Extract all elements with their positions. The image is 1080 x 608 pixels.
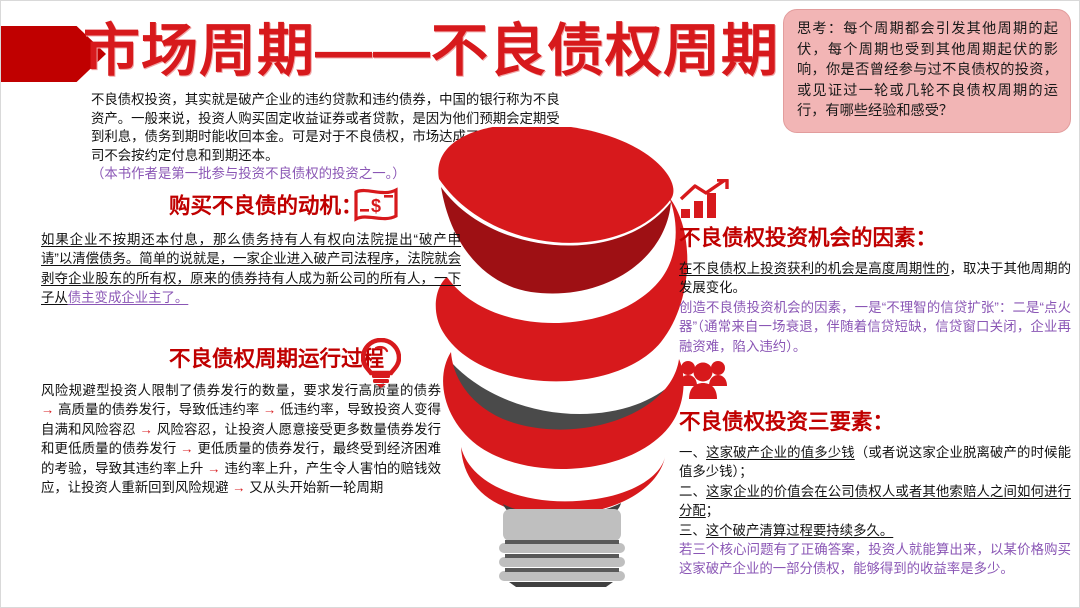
section-process-body: 风险规避型投资人限制了债券发行的数量，要求发行高质量的债券 → 高质量的债券发行… xyxy=(41,381,441,497)
section-three-body: 一、这家破产企业的值多少钱（或者说这家企业脱离破产的时候能值多少钱）； 二、这家… xyxy=(679,443,1071,579)
section-motive: $ 购买不良债的动机： 如果企业不按期还本付息，那么债务持有人有权向法院提出“破… xyxy=(41,193,461,308)
flow-arrow-icon: → xyxy=(140,422,153,437)
item-num: 二、 xyxy=(679,484,706,499)
thinking-callout: 思考：每个周期都会引发其他周期的起伏，每个周期也受到其他周期起伏的影响，你是否曾… xyxy=(783,9,1071,133)
list-item: 一、这家破产企业的值多少钱（或者说这家企业脱离破产的时候能值多少钱）； xyxy=(679,443,1071,482)
list-item: 三、这个破产清算过程要持续多久。 xyxy=(679,521,1071,540)
factors-body-underlined: 在不良债权上投资获利的机会是高度周期性的 xyxy=(679,261,949,276)
people-group-icon xyxy=(679,359,727,404)
section-motive-body: 如果企业不按期还本付息，那么债务持有人有权向法院提出“破产申请”以清偿债务。简单… xyxy=(41,230,461,308)
section-factors-body: 在不良债权上投资获利的机会是高度周期性的，取决于其他周期的发展变化。 创造不良债… xyxy=(679,259,1071,356)
item-underlined: 这个破产清算过程要持续多久。 xyxy=(706,523,893,538)
item-num: 三、 xyxy=(679,523,706,538)
flow-arrow-icon: → xyxy=(207,461,220,476)
process-body-text: 风险规避型投资人限制了债券发行的数量，要求发行高质量的债券 → 高质量的债券发行… xyxy=(41,383,441,495)
section-motive-heading: 购买不良债的动机： xyxy=(169,193,461,219)
bar-chart-growth-icon xyxy=(679,179,731,224)
flow-arrow-icon: → xyxy=(232,480,245,495)
spiral-lightbulb-graphic xyxy=(421,127,711,587)
item-underlined: 这家破产企业的值多少钱 xyxy=(706,445,855,460)
intro-note: （本书作者是第一批参与投资不良债权的投资之一。） xyxy=(91,166,406,181)
three-summary: 若三个核心问题有了正确答案，投资人就能算出来，以某价格购买这家破产企业的一部分债… xyxy=(679,540,1071,579)
section-three-heading: 不良债权投资三要素： xyxy=(679,409,1071,435)
flow-arrow-icon: → xyxy=(41,402,54,417)
item-underlined: 这家企业的价值会在公司债权人或者其他索赔人之间如何进行分配 xyxy=(679,484,1071,518)
section-factors: 不良债权投资机会的因素： 在不良债权上投资获利的机会是高度周期性的，取决于其他周… xyxy=(679,179,1071,356)
item-rest: ； xyxy=(706,503,719,518)
svg-text:$: $ xyxy=(371,196,381,216)
lightbulb-icon xyxy=(361,338,401,393)
motive-body-purple: 债主变成企业主了。 xyxy=(68,290,189,305)
flow-arrow-icon: → xyxy=(263,402,276,417)
section-factors-heading: 不良债权投资机会的因素： xyxy=(679,225,1071,251)
factors-body-purple: 创造不良债投资机会的因素，一是“不理智的信贷扩张”：二是“点火器”（通常来自一场… xyxy=(679,300,1071,354)
page-title: 市场周期——不良债权周期 xyxy=(83,18,779,84)
list-item: 二、这家企业的价值会在公司债权人或者其他索赔人之间如何进行分配； xyxy=(679,482,1071,521)
callout-text: 思考：每个周期都会引发其他周期的起伏，每个周期也受到其他周期起伏的影响，你是否曾… xyxy=(797,21,1058,119)
section-three-elements: 不良债权投资三要素： 一、这家破产企业的值多少钱（或者说这家企业脱离破产的时候能… xyxy=(679,359,1071,579)
section-process: 不良债权周期运行过程 风险规避型投资人限制了债券发行的数量，要求发行高质量的债券… xyxy=(41,346,441,497)
slide-canvas: 市场周期——不良债权周期 思考：每个周期都会引发其他周期的起伏，每个周期也受到其… xyxy=(0,0,1080,608)
money-bill-icon: $ xyxy=(353,185,399,228)
flow-arrow-icon: → xyxy=(180,441,193,456)
item-num: 一、 xyxy=(679,445,706,460)
